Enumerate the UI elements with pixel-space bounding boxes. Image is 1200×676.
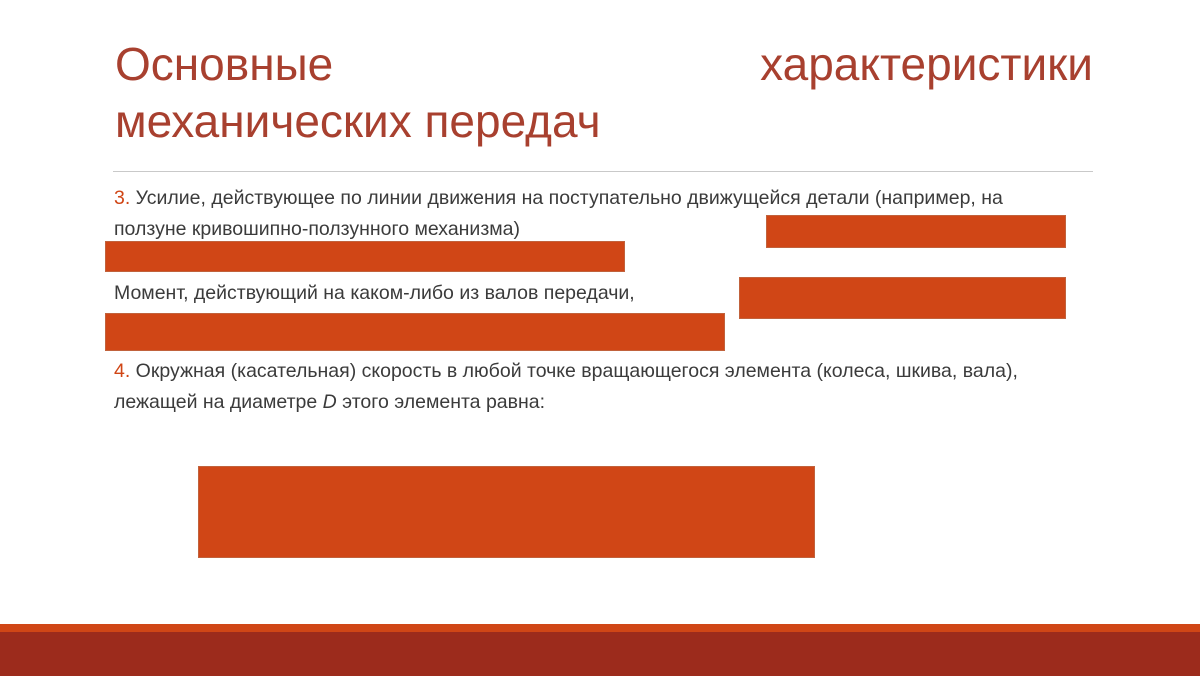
paragraph-4-text-before: Окружная (касательная) скорость в любой … <box>114 360 1023 413</box>
redaction-block-1 <box>766 215 1066 248</box>
diameter-symbol: D <box>323 391 337 413</box>
title-line-2: механических передач <box>115 93 1093 150</box>
redaction-block-4 <box>105 313 725 351</box>
redaction-block-formula <box>198 466 815 558</box>
title-divider <box>113 171 1093 172</box>
paragraph-3-number: 3. <box>114 187 130 209</box>
paragraph-4-text-after: этого элемента равна: <box>337 391 545 413</box>
slide-title: Основные характеристики механических пер… <box>115 36 1093 150</box>
footer-bar <box>0 632 1200 676</box>
title-word-right: характеристики <box>760 36 1093 93</box>
title-line-1: Основные характеристики <box>115 36 1093 93</box>
presentation-slide: Основные характеристики механических пер… <box>0 0 1200 676</box>
paragraph-item-4: 4. Окружная (касательная) скорость в люб… <box>114 356 1074 418</box>
paragraph-4-number: 4. <box>114 360 130 382</box>
redaction-block-3 <box>739 277 1066 319</box>
footer-accent-bar <box>0 624 1200 632</box>
redaction-block-2 <box>105 241 625 272</box>
title-word-left: Основные <box>115 36 333 93</box>
